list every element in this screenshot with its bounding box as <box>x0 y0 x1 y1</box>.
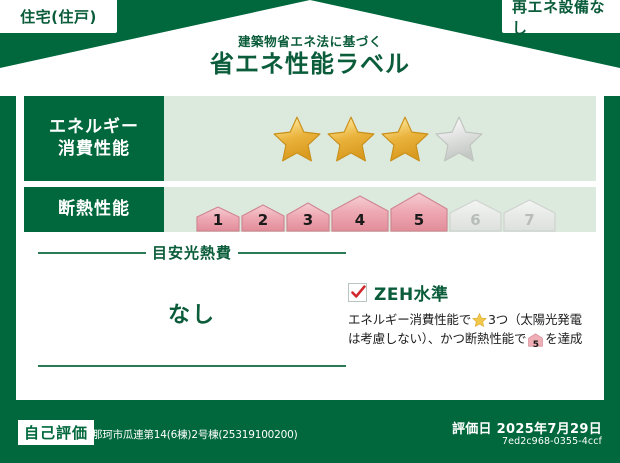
inline-grade-icon: 5 <box>528 333 543 352</box>
inline-grade-number: 5 <box>528 339 543 353</box>
evaluation-date-label: 評価日 <box>452 422 492 437</box>
grade-number: 6 <box>449 211 502 229</box>
energy-performance-label: 建築物省エネ法に基づく 省エネ性能ラベル 住宅(住戸) 再エネ設備なし エネルギ… <box>0 0 620 463</box>
title-main: 省エネ性能ラベル <box>0 51 620 79</box>
self-evaluation-badge: 自己評価 <box>18 420 94 445</box>
check-icon <box>350 284 367 301</box>
tag-building-type: 住宅(住戸) <box>0 0 117 33</box>
utility-cost-value: なし <box>38 297 346 329</box>
utility-cost-section: 目安光熱費 なし <box>38 242 346 367</box>
evaluation-date-value: 2025年7月29日 <box>497 422 602 437</box>
zeh-description: エネルギー消費性能で3つ（太陽光発電 は考慮しない）、かつ断熱性能で5を達成 <box>348 310 598 353</box>
star-empty-icon <box>434 115 484 163</box>
zeh-checkbox[interactable] <box>348 283 367 302</box>
inline-star-icon <box>472 313 487 327</box>
zeh-desc-part2: は考慮しない）、かつ断熱性能で <box>348 331 526 346</box>
grade-number: 2 <box>241 211 285 229</box>
star-filled-icon <box>326 115 376 163</box>
grade-cell-inactive: 6 <box>449 199 502 232</box>
zeh-desc-part3: を達成 <box>545 331 582 346</box>
row-energy-performance: エネルギー 消費性能 <box>24 96 596 181</box>
grade-number: 1 <box>196 211 240 229</box>
row-energy-label-line2: 消費性能 <box>58 139 130 161</box>
zeh-section: ZEH水準 エネルギー消費性能で3つ（太陽光発電 は考慮しない）、かつ断熱性能で… <box>348 280 598 353</box>
row-energy-label-line1: エネルギー <box>49 117 139 139</box>
row-insulation-performance: 断熱性能 1234567 <box>24 187 596 232</box>
content-panel: エネルギー 消費性能 断熱性能 1234567 目安光熱費 なし <box>16 84 604 400</box>
evaluation-date: 評価日 2025年7月29日 <box>452 418 602 437</box>
row-insulation-label-line1: 断熱性能 <box>58 199 130 221</box>
utility-cost-title: 目安光熱費 <box>152 242 232 263</box>
tag-renewable-energy: 再エネ設備なし <box>502 0 620 33</box>
grade-cell-active: 4 <box>331 195 389 232</box>
row-insulation-label: 断熱性能 <box>24 187 164 232</box>
grade-cell-active: 1 <box>196 206 240 232</box>
zeh-title: ZEH水準 <box>374 280 449 305</box>
grade-number: 5 <box>390 211 448 229</box>
grade-number: 3 <box>286 211 330 229</box>
label-title: 建築物省エネ法に基づく 省エネ性能ラベル <box>0 34 620 79</box>
grade-cell-active: 2 <box>241 204 285 232</box>
utility-cost-header: 目安光熱費 <box>38 242 346 263</box>
zeh-desc-star-count: 3つ（太陽光発電 <box>488 312 582 327</box>
grade-cell-active: 3 <box>286 202 330 232</box>
divider-right <box>238 252 346 254</box>
star-filled-icon <box>380 115 430 163</box>
grade-number: 7 <box>503 211 556 229</box>
star-rating <box>164 96 596 181</box>
label-footer: 自己評価 那珂市瓜連第14(6棟)2号棟(25319100200) 評価日 20… <box>0 404 620 463</box>
grade-cell-inactive: 7 <box>503 199 556 232</box>
zeh-header: ZEH水準 <box>348 280 598 305</box>
divider-left <box>38 252 146 254</box>
zeh-desc-part1: エネルギー消費性能で <box>348 312 471 327</box>
insulation-grade-scale: 1234567 <box>164 187 596 232</box>
site-name: 那珂市瓜連第14(6棟)2号棟(25319100200) <box>92 427 298 442</box>
grade-cell-active: 5 <box>390 192 448 232</box>
row-energy-label: エネルギー 消費性能 <box>24 96 164 181</box>
evaluation-hash: 7ed2c968-0355-4ccf <box>502 436 602 447</box>
star-filled-icon <box>272 115 322 163</box>
grade-number: 4 <box>331 211 389 229</box>
utility-cost-bottom-rule <box>38 365 346 367</box>
